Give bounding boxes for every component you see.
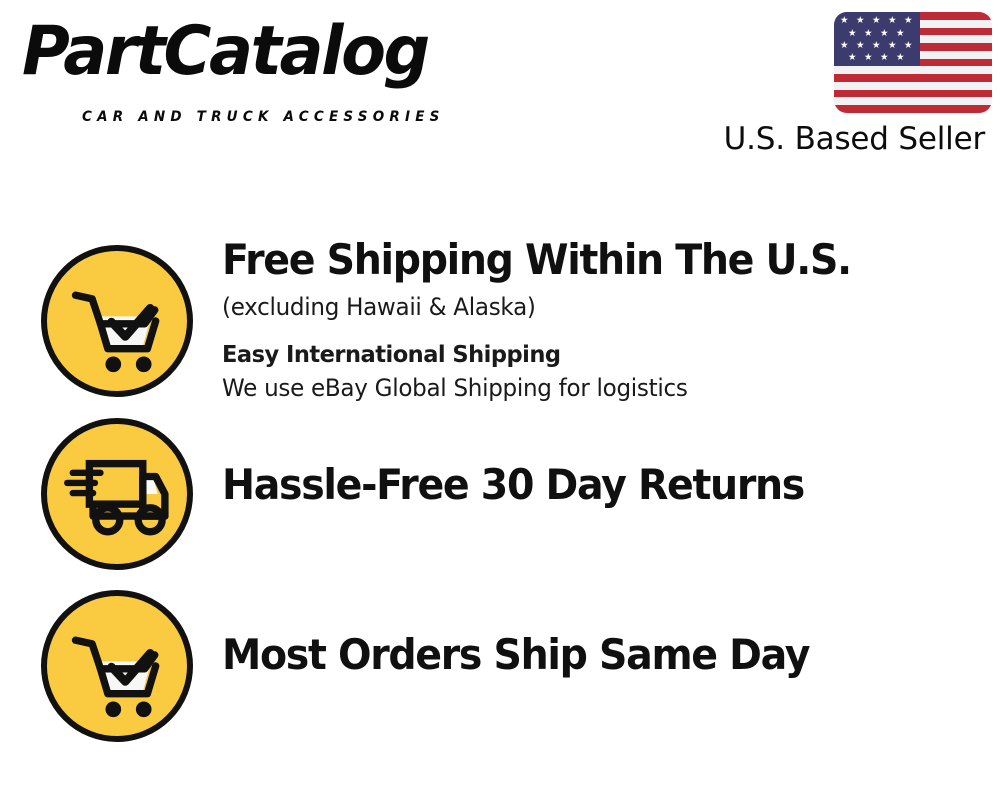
us-based-seller-badge: ★ ★ ★ ★ ★ ★ ★ ★ ★ ★ ★ ★ ★ ★ ★ ★ ★ — [696, 10, 996, 160]
feature-row-free-shipping: Free Shipping Within The U.S. (excluding… — [0, 245, 1000, 405]
feature-subheading: Easy International Shipping — [222, 340, 952, 369]
feature-text-free-shipping: Free Shipping Within The U.S. (excluding… — [222, 238, 982, 403]
flag-stripe — [834, 74, 992, 82]
partcatalog-logo: PartCatalog CAR AND TRUCK ACCESSORIES — [22, 22, 492, 118]
feature-heading: Most Orders Ship Same Day — [222, 633, 936, 678]
logo-tagline: CAR AND TRUCK ACCESSORIES — [82, 110, 445, 125]
us-flag-icon: ★ ★ ★ ★ ★ ★ ★ ★ ★ ★ ★ ★ ★ ★ ★ ★ ★ — [834, 12, 992, 113]
feature-text-same-day: Most Orders Ship Same Day — [222, 633, 982, 678]
feature-subnote: (excluding Hawaii & Alaska) — [222, 292, 952, 322]
seller-label: U.S. Based Seller — [724, 120, 985, 159]
logo-wordmark: PartCatalog — [22, 18, 428, 86]
delivery-truck-icon — [41, 418, 193, 570]
feature-heading: Hassle-Free 30 Day Returns — [222, 463, 936, 508]
flag-canton: ★ ★ ★ ★ ★ ★ ★ ★ ★ ★ ★ ★ ★ ★ ★ ★ ★ — [834, 12, 920, 66]
feature-heading: Free Shipping Within The U.S. — [222, 238, 936, 283]
flag-stripe — [834, 90, 992, 98]
banner-header: PartCatalog CAR AND TRUCK ACCESSORIES ★ … — [0, 0, 1000, 170]
shipping-info-banner: PartCatalog CAR AND TRUCK ACCESSORIES ★ … — [0, 0, 1000, 800]
flag-stripe — [834, 105, 992, 113]
feature-text-returns: Hassle-Free 30 Day Returns — [222, 463, 982, 508]
shopping-cart-check-icon — [41, 245, 193, 397]
shopping-cart-check-icon — [41, 590, 193, 742]
feature-row-same-day-shipping: Most Orders Ship Same Day — [0, 590, 1000, 744]
feature-subdetail: We use eBay Global Shipping for logistic… — [222, 373, 952, 403]
feature-row-returns: Hassle-Free 30 Day Returns — [0, 418, 1000, 574]
